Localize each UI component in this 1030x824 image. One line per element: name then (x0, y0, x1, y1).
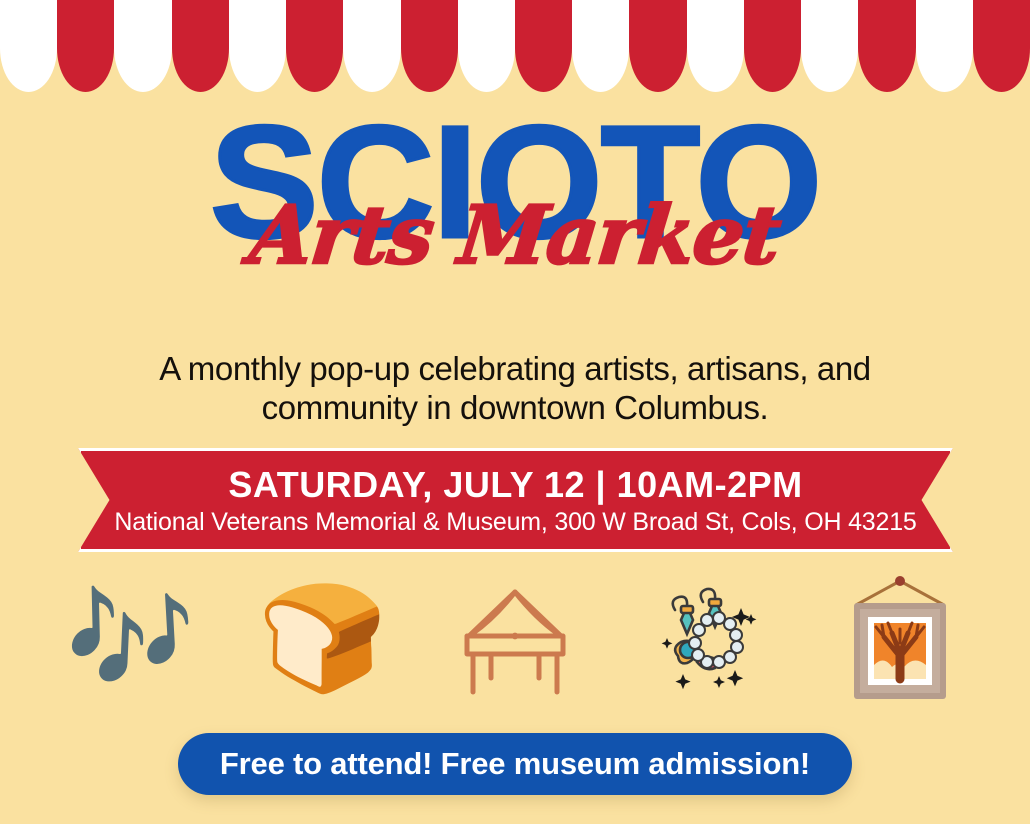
awning-stripe (229, 0, 286, 92)
music-notes-icon: 🎶 (55, 563, 205, 713)
awning-stripe (629, 0, 686, 92)
awning-banner (0, 0, 1030, 92)
awning-stripe (687, 0, 744, 92)
subtitle-line-2: community in downtown Columbus. (95, 389, 935, 428)
music-notes-glyph: 🎶 (65, 586, 195, 690)
market-tent-svg (453, 576, 577, 700)
ribbon-text: SATURDAY, JULY 12 | 10AM-2PM National Ve… (78, 448, 953, 552)
event-date-time: SATURDAY, JULY 12 | 10AM-2PM (228, 464, 802, 506)
event-title-script: Arts Market (0, 195, 1030, 275)
jewelry-svg (645, 576, 769, 700)
subtitle-line-1: A monthly pop-up celebrating artists, ar… (95, 350, 935, 389)
category-icon-row: 🎶 🍞 (0, 558, 1030, 718)
picture-nail (895, 576, 905, 586)
awning-stripe (0, 0, 57, 92)
free-admission-button[interactable]: Free to attend! Free museum admission! (178, 733, 852, 795)
awning-stripe (858, 0, 915, 92)
bread-loaf-icon: 🍞 (248, 563, 398, 713)
awning-stripe (114, 0, 171, 92)
awning-stripe (801, 0, 858, 92)
awning-stripe (973, 0, 1030, 92)
awning-stripe (401, 0, 458, 92)
awning-stripe (343, 0, 400, 92)
awning-stripe (515, 0, 572, 92)
bread-loaf-glyph: 🍞 (258, 586, 388, 690)
market-tent-icon (440, 563, 590, 713)
framed-art-svg (838, 571, 962, 705)
awning-stripe (57, 0, 114, 92)
awning-stripe (744, 0, 801, 92)
title-block: SCIOTO Arts Market (0, 108, 1030, 275)
awning-stripe (572, 0, 629, 92)
awning-stripe (916, 0, 973, 92)
jewelry-icon (632, 563, 782, 713)
framed-art-icon (825, 563, 975, 713)
awning-stripe (458, 0, 515, 92)
event-subtitle: A monthly pop-up celebrating artists, ar… (95, 350, 935, 428)
awning-stripe (286, 0, 343, 92)
event-venue-address: National Veterans Memorial & Museum, 300… (114, 508, 916, 537)
tent-peak-dot (512, 633, 519, 640)
event-poster: SCIOTO Arts Market A monthly pop-up cele… (0, 0, 1030, 824)
awning-stripe (172, 0, 229, 92)
event-details-ribbon: SATURDAY, JULY 12 | 10AM-2PM National Ve… (78, 448, 953, 552)
